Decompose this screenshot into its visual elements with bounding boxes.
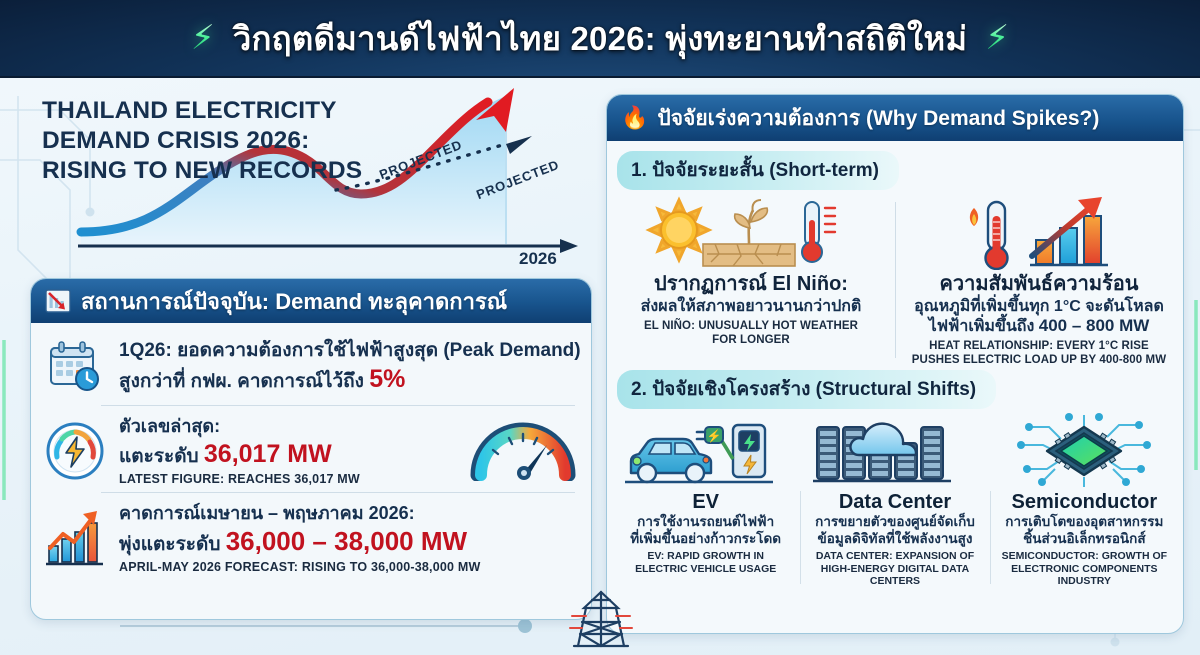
- left-column: PROJECTED PROJECTED 2026 Thailand Electr…: [22, 86, 592, 631]
- structural-item-en-l1: Data Center: expansion of: [805, 550, 984, 563]
- structural-item-title: EV: [692, 491, 719, 514]
- structural-item-th-l1: การขยายตัวของศูนย์จัดเก็บ: [815, 514, 975, 531]
- lightning-bolt-icon: ⚡: [985, 21, 1009, 55]
- banner-title: วิกฤตดีมานด์ไฟฟ้าไทย 2026: พุ่งทะยานทำสถ…: [233, 12, 968, 65]
- short-term-item: ปรากฏการณ์ El Niño: ส่งผลให้สภาพอยาวนานก…: [607, 196, 895, 364]
- semiconductor-chip-icon: [1009, 413, 1159, 489]
- section-pill-short-term: 1. ปัจจัยระยะสั้น (Short-term): [617, 151, 899, 190]
- power-gauge-icon: [43, 419, 107, 483]
- bar-chart-up-icon: [43, 506, 107, 570]
- stat-row-value: 5%: [369, 365, 405, 393]
- short-term-item-en-line2: pushes electric load up by 400-800 MW: [912, 353, 1166, 367]
- thermometer-bar-chart-icon: [944, 196, 1134, 270]
- axis-year-label: 2026: [519, 249, 557, 269]
- section-pill-structural: 2. ปัจจัยเชิงโครงสร้าง (Structural Shift…: [617, 370, 996, 409]
- stat-row-value: 36,017 MW: [204, 440, 332, 468]
- stat-row-value: 36,000 – 38,000 MW: [226, 526, 467, 556]
- structural-item-title: Semiconductor: [1012, 491, 1158, 514]
- factors-title: ปัจจัยเร่งความต้องการ (Why Demand Spikes…: [657, 102, 1099, 135]
- short-term-item-title: ความสัมพันธ์ความร้อน: [940, 273, 1139, 297]
- structural-item-en-l3: industry: [1002, 575, 1167, 588]
- fire-icon: 🔥: [621, 107, 648, 129]
- infographic-root: ⚡ วิกฤตดีมานด์ไฟฟ้าไทย 2026: พุ่งทะยานทำ…: [0, 0, 1200, 655]
- sun-drought-thermometer-icon: [641, 196, 861, 270]
- svg-text:⚡: ⚡: [706, 429, 721, 443]
- structural-item-en-l1: Semiconductor: growth of: [1002, 550, 1167, 563]
- structural-item-title: Data Center: [839, 491, 951, 514]
- structural-item-th-l1: การใช้งานรถยนต์ไฟฟ้า: [637, 514, 774, 531]
- stat-row-th-line2: พุ่งแตะระดับ: [119, 534, 226, 555]
- short-term-item: ความสัมพันธ์ความร้อน อุณหภูมิที่เพิ่มขึ้…: [895, 196, 1183, 364]
- short-term-item-title: ปรากฏการณ์ El Niño:: [654, 273, 848, 297]
- stat-row-th-line1: ตัวเลขล่าสุด:: [119, 415, 457, 438]
- factors-card: 🔥 ปัจจัยเร่งความต้องการ (Why Demand Spik…: [606, 94, 1184, 634]
- structural-item-th-l2: ข้อมูลดิจิทัลที่ใช้พลังงานสูง: [817, 531, 972, 548]
- current-situation-title: สถานการณ์ปัจจุบัน: Demand ทะลุคาดการณ์: [81, 284, 507, 319]
- stat-row: คาดการณ์เมษายน – พฤษภาคม 2026: พุ่งแตะระ…: [31, 492, 591, 580]
- stat-row: 1Q26: ยอดความต้องการใช้ไฟฟ้าสูงสุด (Peak…: [31, 323, 591, 405]
- structural-item-th-l2: ชิ้นส่วนอิเล็กทรอนิกส์: [1023, 531, 1146, 548]
- chart-decline-icon: [45, 288, 71, 314]
- stat-row-th-line2: แตะระดับ: [119, 446, 204, 467]
- structural-item-th-l1: การเติบโตของอุตสาหกรรม: [1005, 514, 1163, 531]
- stat-row-en: April-May 2026 forecast: rising to 36,00…: [119, 560, 577, 574]
- structural-item-en-l1: EV: rapid growth in: [635, 550, 776, 563]
- current-situation-card: สถานการณ์ปัจจุบัน: Demand ทะลุคาดการณ์: [30, 278, 592, 620]
- factors-header: 🔥 ปัจจัยเร่งความต้องการ (Why Demand Spik…: [607, 95, 1183, 141]
- page-title: Thailand Electricity Demand Crisis 2026:…: [42, 96, 372, 186]
- short-term-item-subtitle-l1: อุณหภูมิที่เพิ่มขึ้นทุก 1°C จะดันโหลด: [914, 297, 1164, 316]
- calendar-clock-icon: [43, 335, 107, 399]
- short-term-item-subtitle: ส่งผลให้สภาพอยาวนานกว่าปกติ: [641, 297, 862, 316]
- header-banner: ⚡ วิกฤตดีมานด์ไฟฟ้าไทย 2026: พุ่งทะยานทำ…: [0, 0, 1200, 78]
- structural-item-en-l2: electric vehicle usage: [635, 563, 776, 576]
- stat-row-en: Latest figure: reaches 36,017 MW: [119, 472, 457, 486]
- short-term-item-value: 400 – 800 MW: [1039, 316, 1150, 335]
- lightning-bolt-icon: ⚡: [191, 21, 215, 55]
- structural-item-ev: ⚡ EV การใช้งานรถยนต์ไฟฟ้า ที่เพิ่มขึ้นอ: [611, 413, 800, 588]
- structural-item-th-l2: ที่เพิ่มขึ้นอย่างก้าวกระโดด: [630, 531, 781, 548]
- stat-row-th-line1: 1Q26: ยอดความต้องการใช้ไฟฟ้าสูงสุด (Peak…: [119, 339, 577, 363]
- short-term-item-en-line2: for longer: [644, 333, 858, 347]
- structural-item-en-l2: high-energy digital data centers: [805, 563, 984, 589]
- data-center-cloud-icon: [811, 413, 979, 489]
- stat-row: ตัวเลขล่าสุด: แตะระดับ 36,017 MW Latest …: [31, 405, 591, 492]
- structural-items: ⚡ EV การใช้งานรถยนต์ไฟฟ้า ที่เพิ่มขึ้นอ: [607, 413, 1183, 588]
- short-term-item-subtitle-l2: ไฟฟ้าเพิ่มขึ้นถึง: [929, 318, 1039, 335]
- stat-row-th-line2: สูงกว่าที่ กฟผ. คาดการณ์ไว้ถึง: [119, 371, 369, 392]
- short-term-items: ปรากฏการณ์ El Niño: ส่งผลให้สภาพอยาวนานก…: [607, 196, 1183, 364]
- structural-item-en-l2: electronic components: [1002, 563, 1167, 576]
- stat-row-th-line1: คาดการณ์เมษายน – พฤษภาคม 2026:: [119, 502, 577, 525]
- structural-item-semiconductor: Semiconductor การเติบโตของอุตสาหกรรม ชิ้…: [990, 413, 1179, 588]
- structural-item-data-center: Data Center การขยายตัวของศูนย์จัดเก็บ ข้…: [800, 413, 989, 588]
- speedometer-icon: [469, 415, 577, 486]
- current-situation-header: สถานการณ์ปัจจุบัน: Demand ทะลุคาดการณ์: [31, 279, 591, 323]
- ev-charging-icon: ⚡: [621, 413, 791, 489]
- short-term-item-en-line1: El Niño: unusually hot weather: [644, 319, 858, 333]
- short-term-item-en-line1: Heat relationship: every 1°C rise: [912, 339, 1166, 353]
